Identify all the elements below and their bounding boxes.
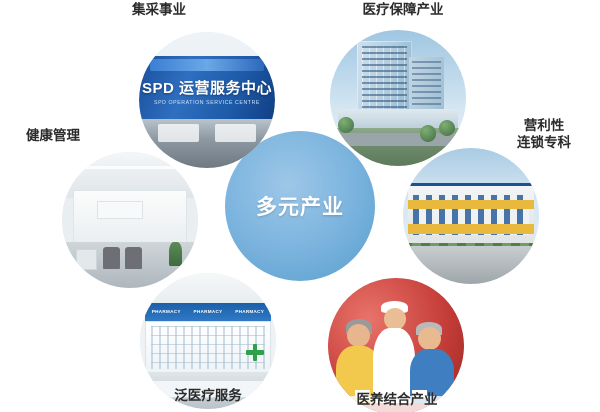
photo-text-spd-subtitle: SPD OPERATION SERVICE CENTRE	[139, 100, 275, 106]
photo-text-pharmacy-sign-1: PHARMACY	[152, 309, 181, 314]
node-procurement[interactable]: SPD 运营服务中心 SPD OPERATION SERVICE CENTRE	[139, 32, 275, 168]
node-medical-insurance[interactable]	[330, 30, 466, 166]
node-label-procurement: 集采事业	[104, 2, 214, 19]
node-label-general-medical-services: 泛医疗服务	[148, 388, 268, 405]
node-health-management[interactable]	[62, 152, 198, 288]
photo-text-spd-title: SPD 运营服务中心	[139, 77, 275, 98]
hub-center-label: 多元产业	[256, 191, 344, 221]
health-management-lobby-photo	[62, 152, 198, 288]
hospital-building-photo	[330, 30, 466, 166]
specialty-hospital-building-photo	[403, 148, 539, 284]
node-label-for-profit-chain: 营利性 连锁专科	[492, 118, 596, 152]
photo-text-pharmacy-sign-2: PHARMACY	[194, 309, 223, 314]
diagram-canvas: 多元产业 SPD 运营服务中心 SPD OPERATION SERVICE CE…	[0, 0, 600, 412]
node-for-profit-chain[interactable]	[403, 148, 539, 284]
node-label-medical-insurance: 医疗保障产业	[343, 2, 463, 19]
node-label-health-management: 健康管理	[8, 128, 98, 145]
node-label-nutrition-care: 医养结合产业	[337, 392, 457, 409]
pharmacy-cross-icon	[246, 344, 264, 362]
photo-text-pharmacy-sign-3: PHARMACY	[235, 309, 264, 314]
spd-operation-center-photo: SPD 运营服务中心 SPD OPERATION SERVICE CENTRE	[139, 32, 275, 168]
